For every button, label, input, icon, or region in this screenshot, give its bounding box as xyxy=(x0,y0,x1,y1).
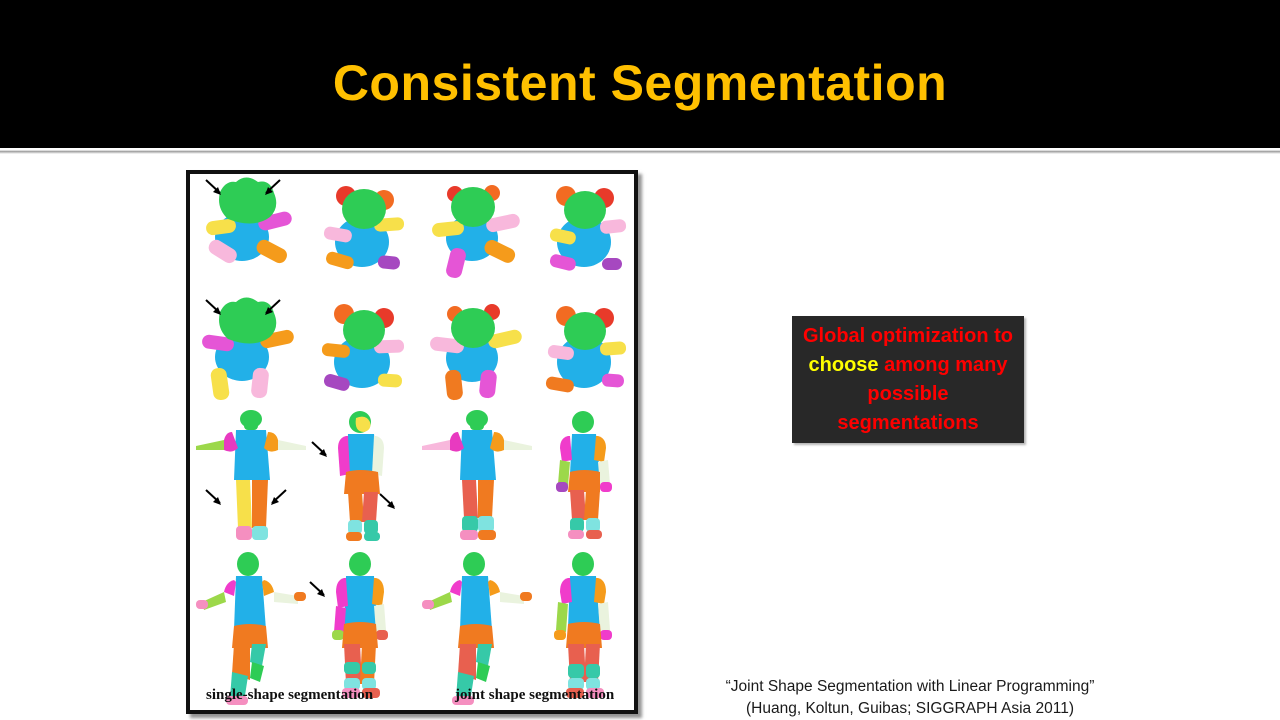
citation-title: “Joint Shape Segmentation with Linear Pr… xyxy=(726,678,1095,695)
callout-box: Global optimization to choose among many… xyxy=(792,316,1024,443)
bear-shape-svg xyxy=(532,292,634,410)
annotation-arrow-icon xyxy=(204,298,226,323)
callout-text-before: Global optimization to xyxy=(803,325,1013,347)
human-shape-svg xyxy=(422,410,532,550)
citation-authors: (Huang, Koltun, Guibas; SIGGRAPH Asia 20… xyxy=(660,698,1160,720)
annotation-arrow-icon xyxy=(266,488,288,513)
bear-shape-svg xyxy=(422,174,532,292)
annotation-arrow-icon xyxy=(204,178,226,203)
human-shape-svg xyxy=(194,410,308,550)
bear-side-joint xyxy=(532,174,634,292)
human-shape-svg xyxy=(532,410,634,550)
annotation-arrow-icon xyxy=(308,580,330,605)
title-divider xyxy=(0,150,1280,154)
bear-side-single xyxy=(308,174,412,292)
human-stand-joint xyxy=(532,410,634,550)
callout-text: Global optimization to choose among many… xyxy=(792,322,1024,438)
callout-highlight-word: choose xyxy=(809,354,879,376)
caption-single-shape: single-shape segmentation xyxy=(206,687,373,704)
bear-front-joint xyxy=(422,174,532,292)
human-stand-single xyxy=(308,410,412,550)
segmentation-figure-panel: single-shape segmentation joint shape se… xyxy=(186,170,638,714)
annotation-arrow-icon xyxy=(378,492,400,517)
human-tpose-joint xyxy=(422,410,532,550)
figure-row-bears-1 xyxy=(190,174,634,292)
figure-caption-strip: single-shape segmentation joint shape se… xyxy=(190,680,634,710)
annotation-arrow-icon xyxy=(310,440,332,465)
human-shape-svg xyxy=(308,410,412,550)
annotation-arrow-icon xyxy=(204,488,226,513)
page-title: Consistent Segmentation xyxy=(0,52,1280,114)
bear-shape-svg xyxy=(532,174,634,292)
citation-block: “Joint Shape Segmentation with Linear Pr… xyxy=(660,676,1160,720)
human-tpose-single xyxy=(194,410,308,550)
bear-front-joint-b xyxy=(422,292,532,410)
bear-shape-svg xyxy=(422,292,532,410)
annotation-arrow-icon xyxy=(260,178,282,203)
bear-side-single-b xyxy=(308,292,412,410)
bear-shape-svg xyxy=(308,292,412,410)
figure-row-bears-2 xyxy=(190,292,634,410)
caption-joint-shape: joint shape segmentation xyxy=(455,687,614,704)
annotation-arrow-icon xyxy=(260,298,282,323)
figure-row-humans-1 xyxy=(190,410,634,550)
bear-side-joint-b xyxy=(532,292,634,410)
bear-shape-svg xyxy=(308,174,412,292)
